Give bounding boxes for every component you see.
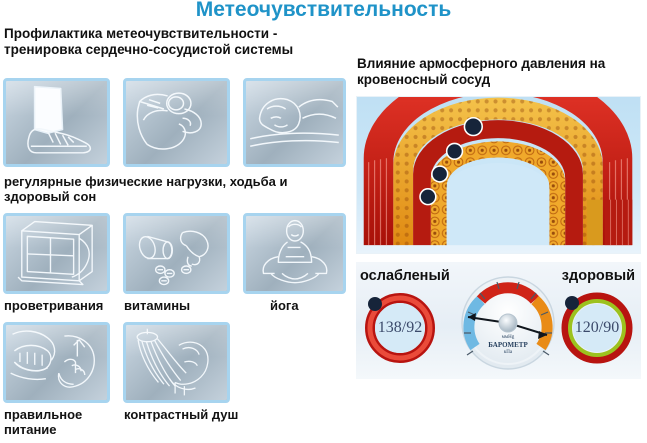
infographic-page: Метеочувствительность Профилактика метео… bbox=[0, 0, 647, 443]
tile-sleep[interactable] bbox=[243, 78, 346, 167]
tile-sheen bbox=[246, 216, 343, 248]
prevention-column: Профилактика метеочувствительности - тре… bbox=[0, 26, 350, 443]
tile-vitamins[interactable] bbox=[123, 213, 230, 294]
barometer: ммHg БАРОМЕТР кПа bbox=[459, 273, 557, 373]
caption-shower: контрастный душ bbox=[124, 407, 239, 422]
barometer-unit-top: ммHg bbox=[459, 335, 557, 340]
barometer-unit-bottom: кПа bbox=[459, 350, 557, 355]
weak-pressure-ring: 138/92 bbox=[362, 290, 438, 366]
tile-nutrition[interactable] bbox=[3, 322, 110, 403]
vessel-title: Влияние армосферного давления на кровено… bbox=[357, 56, 642, 88]
barometer-name: БАРОМЕТР bbox=[459, 341, 557, 349]
tile-sheen bbox=[6, 325, 107, 357]
barometer-dial-icon bbox=[459, 273, 557, 373]
tile-ventilation[interactable] bbox=[3, 213, 110, 294]
healthy-value: 120/90 bbox=[559, 290, 635, 366]
caption-row-1: регулярные физические нагрузки, ходьба и… bbox=[4, 174, 344, 204]
caption-ventilation: проветривания bbox=[4, 298, 116, 313]
tile-sheen bbox=[126, 81, 227, 116]
pressure-gauges-panel: ослабленый здоровый 138/92 bbox=[356, 262, 641, 379]
tile-walking[interactable] bbox=[3, 78, 110, 167]
lead-text: Профилактика метеочувствительности - тре… bbox=[4, 26, 344, 58]
caption-nutrition: правильное питание bbox=[4, 407, 119, 437]
blood-vessel-panel bbox=[356, 96, 641, 254]
healthy-pressure-ring: 120/90 bbox=[559, 290, 635, 366]
tile-sheen bbox=[6, 216, 107, 248]
tile-sheen bbox=[126, 325, 227, 357]
tile-sheen bbox=[126, 216, 227, 248]
tile-shower[interactable] bbox=[123, 322, 230, 403]
weak-label: ослабленый bbox=[360, 268, 450, 284]
weak-value: 138/92 bbox=[362, 290, 438, 366]
caption-yoga: йога bbox=[270, 298, 350, 313]
vessel-column: Влияние армосферного давления на кровено… bbox=[350, 0, 647, 443]
tile-drinking[interactable] bbox=[123, 78, 230, 167]
tile-yoga[interactable] bbox=[243, 213, 346, 294]
healthy-label: здоровый bbox=[562, 268, 635, 284]
tile-sheen bbox=[6, 81, 107, 116]
blood-vessel-cross-section bbox=[357, 97, 640, 253]
caption-vitamins: витамины bbox=[124, 298, 236, 313]
tile-sheen bbox=[246, 81, 343, 116]
